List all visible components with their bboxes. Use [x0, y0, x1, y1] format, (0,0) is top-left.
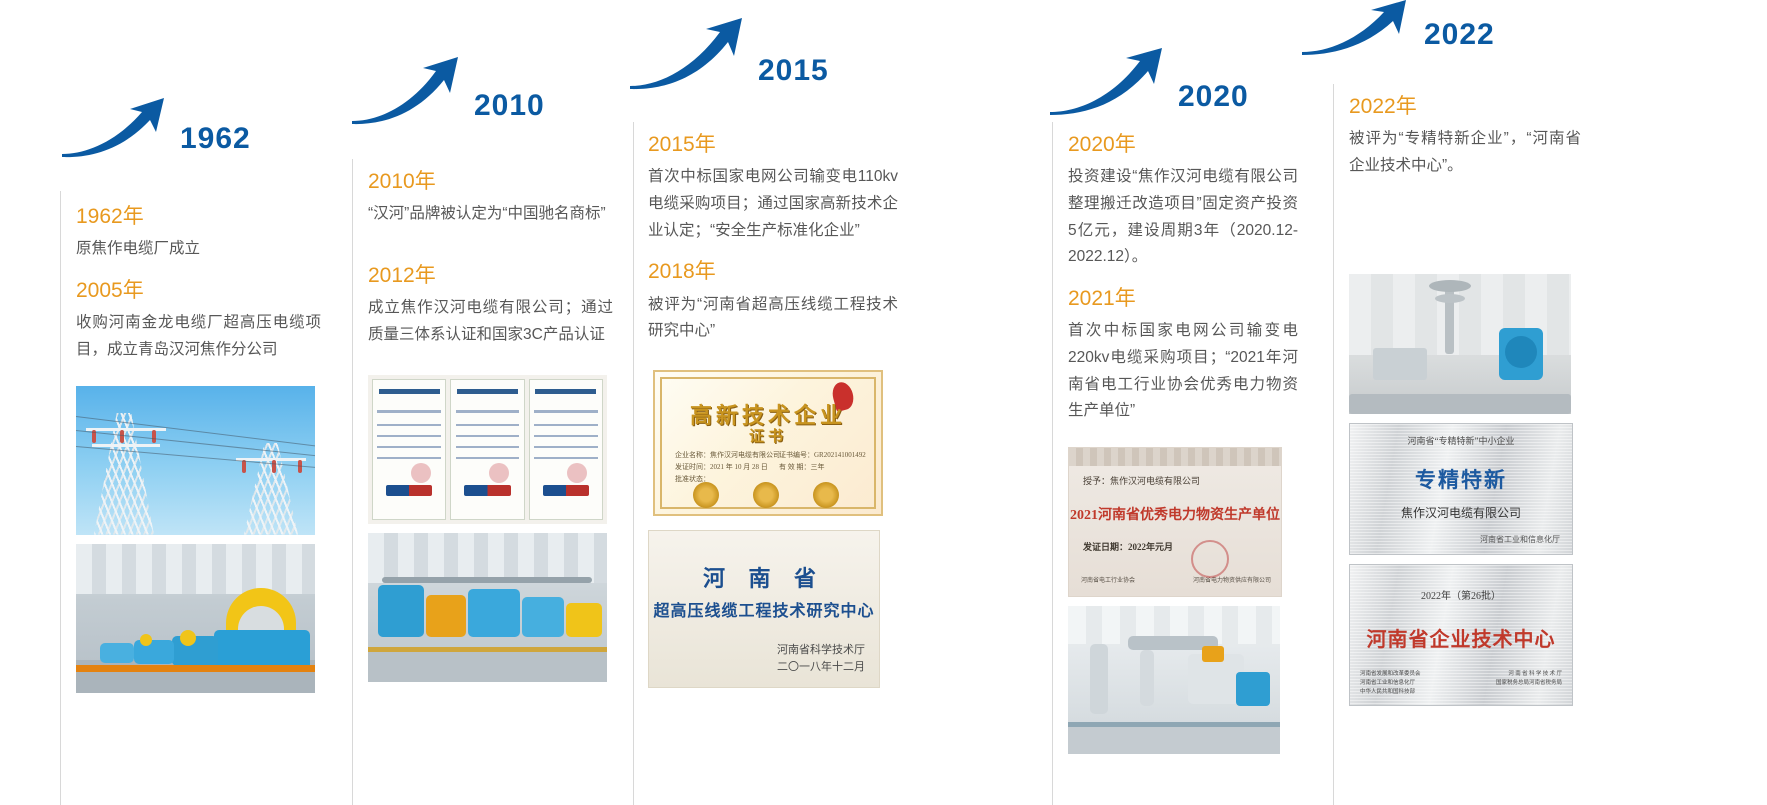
entry-year-label: 2018年 [648, 258, 898, 286]
milestone-header-2015: 2015 [628, 16, 829, 90]
entry-year-label: 2010年 [368, 168, 613, 196]
excellent-power-material-producer-certificate-photo: 授予：焦作汉河电缆有限公司 2021河南省优秀电力物资生产单位 发证日期：202… [1068, 447, 1282, 597]
milestone-entry: 2015年 首次中标国家电网公司输变电110kv电缆采购项目；通过国家高新技术企… [648, 131, 898, 244]
entry-description: 被评为“河南省超高压线缆工程技术研究中心” [648, 292, 898, 345]
certificate-number-line: 证书编号：GR202141001492 [779, 450, 866, 460]
certificate-subtitle: 证书 [653, 425, 883, 446]
cable-production-workshop-photo [76, 544, 315, 693]
milestone-year-2015: 2015 [758, 56, 829, 86]
curved-up-right-arrow-icon [60, 96, 168, 158]
milestone-entry: 2018年 被评为“河南省超高压线缆工程技术研究中心” [648, 258, 898, 345]
entry-description: 原焦作电缆厂成立 [76, 236, 321, 263]
curved-up-right-arrow-icon [628, 16, 746, 90]
milestone-column-2010: 2010年 “汉河”品牌被认定为“中国驰名商标” 2012年 成立焦作汉河电缆有… [368, 168, 613, 682]
certificate-main-title: 2021河南省优秀电力物资生产单位 [1069, 504, 1281, 524]
milestone-column-2022: 2022年 被评为“专精特新企业”，“河南省企业技术中心”。 河南省“专精特新”… [1349, 93, 1581, 706]
milestone-year-2010: 2010 [474, 91, 545, 121]
milestone-header-2010: 2010 [350, 55, 545, 125]
plaque-line-1: 河 南 省 [649, 561, 879, 593]
milestone-header-2022: 2022 [1300, 0, 1495, 56]
milestone-images [368, 375, 613, 682]
entry-description: 投资建设“焦作汉河电缆有限公司整理搬迁改造项目”固定资产投资5亿元，建设周期3年… [1068, 164, 1298, 271]
certificate-validity-line: 有 效 期：三年 [779, 462, 825, 472]
entry-year-label: 2020年 [1068, 131, 1298, 159]
entry-year-label: 2015年 [648, 131, 898, 159]
curved-up-right-arrow-icon [350, 55, 462, 125]
certificate-company-line: 企业名称：焦作汉河电缆有限公司 [675, 450, 780, 460]
extrusion-line-workshop-photo [368, 533, 607, 682]
milestone-entry: 2012年 成立焦作汉河电缆有限公司；通过质量三体系认证和国家3C产品认证 [368, 262, 613, 349]
milestone-column-2015: 2015年 首次中标国家电网公司输变电110kv电缆采购项目；通过国家高新技术企… [648, 131, 898, 688]
high-voltage-test-hall-photo [1349, 274, 1571, 414]
column-divider [352, 159, 353, 805]
certificate-item [372, 379, 446, 520]
plaque-footer-right-1: 河 南 省 科 学 技 术 厅 [1508, 669, 1562, 677]
entry-year-label: 2022年 [1349, 93, 1581, 121]
henan-enterprise-tech-center-plaque-photo: 2022年（第26批） 河南省企业技术中心 河南省发展和改革委员会 河南省工业和… [1349, 564, 1573, 706]
entry-description: 被评为“专精特新企业”，“河南省企业技术中心”。 [1349, 126, 1581, 179]
column-divider [1052, 122, 1053, 805]
plaque-footer-right-2: 国家税务总局河南省税务局 [1496, 678, 1562, 686]
milestone-year-2022: 2022 [1424, 20, 1495, 50]
milestone-entry: 2022年 被评为“专精特新企业”，“河南省企业技术中心”。 [1349, 93, 1581, 180]
entry-description: 首次中标国家电网公司输变电220kv电缆采购项目；“2021年河南省电工行业协会… [1068, 318, 1298, 425]
timeline-infographic: 1962 2010 2015 2020 2022 1962年 原焦作电缆厂成立 [0, 0, 1767, 805]
certificate-item [450, 379, 524, 520]
milestone-header-2020: 2020 [1048, 46, 1249, 116]
three-system-certificates-photo [368, 375, 607, 524]
milestone-entry: 2020年 投资建设“焦作汉河电缆有限公司整理搬迁改造项目”固定资产投资5亿元，… [1068, 131, 1298, 271]
plaque-footer-left-3: 中华人民共和国科技部 [1360, 687, 1572, 695]
entry-description: “汉河”品牌被认定为“中国驰名商标” [368, 201, 613, 228]
curved-up-right-arrow-icon [1300, 0, 1412, 56]
certificate-grantee: 授予：焦作汉河电缆有限公司 [1083, 474, 1281, 487]
certificate-issue-date: 发证日期：2022年元月 [1083, 540, 1281, 553]
milestone-entry: 2010年 “汉河”品牌被认定为“中国驰名商标” [368, 168, 613, 228]
plaque-issuer: 河南省科学技术厅 [777, 641, 865, 657]
milestone-entry: 1962年 原焦作电缆厂成立 [76, 203, 321, 263]
curved-up-right-arrow-icon [1048, 46, 1166, 116]
milestone-year-1962: 1962 [180, 124, 251, 154]
milestone-images: 高新技术企业 证书 企业名称：焦作汉河电缆有限公司 发证时间：2021 年 10… [648, 365, 898, 688]
column-divider [1333, 84, 1334, 805]
plaque-top-label: 河南省“专精特新”中小企业 [1350, 434, 1572, 447]
milestone-year-2020: 2020 [1178, 82, 1249, 112]
entry-year-label: 2012年 [368, 262, 613, 290]
plaque-company-name: 焦作汉河电缆有限公司 [1350, 504, 1572, 521]
milestone-column-2020: 2020年 投资建设“焦作汉河电缆有限公司整理搬迁改造项目”固定资产投资5亿元，… [1068, 131, 1298, 754]
entry-description: 成立焦作汉河电缆有限公司；通过质量三体系认证和国家3C产品认证 [368, 295, 613, 348]
entry-year-label: 2005年 [76, 277, 321, 305]
plaque-date: 二〇一八年十二月 [777, 658, 865, 674]
plaque-line-2: 超高压线缆工程技术研究中心 [649, 597, 879, 621]
cable-extrusion-machine-photo [1068, 606, 1280, 754]
plaque-main-title: 专精特新 [1350, 464, 1572, 494]
entry-description: 收购河南金龙电缆厂超高压电缆项目，成立青岛汉河焦作分公司 [76, 310, 321, 363]
milestone-images: 河南省“专精特新”中小企业 专精特新 焦作汉河电缆有限公司 河南省工业和信息化厅… [1349, 274, 1581, 706]
entry-year-label: 1962年 [76, 203, 321, 231]
transmission-towers-photo [76, 386, 315, 535]
plaque-issuer: 河南省工业和信息化厅 [1480, 534, 1560, 545]
high-tech-enterprise-certificate-photo: 高新技术企业 证书 企业名称：焦作汉河电缆有限公司 发证时间：2021 年 10… [648, 365, 888, 521]
milestone-header-1962: 1962 [60, 96, 251, 158]
specialized-new-sme-plaque-photo: 河南省“专精特新”中小企业 专精特新 焦作汉河电缆有限公司 河南省工业和信息化厅 [1349, 423, 1573, 555]
milestone-images: 授予：焦作汉河电缆有限公司 2021河南省优秀电力物资生产单位 发证日期：202… [1068, 447, 1298, 754]
column-divider [60, 191, 61, 805]
plaque-main-title: 河南省企业技术中心 [1350, 623, 1572, 652]
certificate-item [529, 379, 603, 520]
column-divider [633, 122, 634, 805]
certificate-issue-date-line: 发证时间：2021 年 10 月 28 日 [675, 462, 768, 472]
engineering-research-center-plaque-photo: 河 南 省 超高压线缆工程技术研究中心 河南省科学技术厅 二〇一八年十二月 [648, 530, 880, 688]
milestone-column-1962: 1962年 原焦作电缆厂成立 2005年 收购河南金龙电缆厂超高压电缆项目，成立… [76, 203, 321, 693]
milestone-entry: 2021年 首次中标国家电网公司输变电220kv电缆采购项目；“2021年河南省… [1068, 285, 1298, 425]
entry-year-label: 2021年 [1068, 285, 1298, 313]
milestone-entry: 2005年 收购河南金龙电缆厂超高压电缆项目，成立青岛汉河焦作分公司 [76, 277, 321, 364]
entry-description: 首次中标国家电网公司输变电110kv电缆采购项目；通过国家高新技术企业认定；“安… [648, 164, 898, 244]
milestone-images [76, 386, 321, 693]
plaque-batch-label: 2022年（第26批） [1350, 587, 1572, 602]
